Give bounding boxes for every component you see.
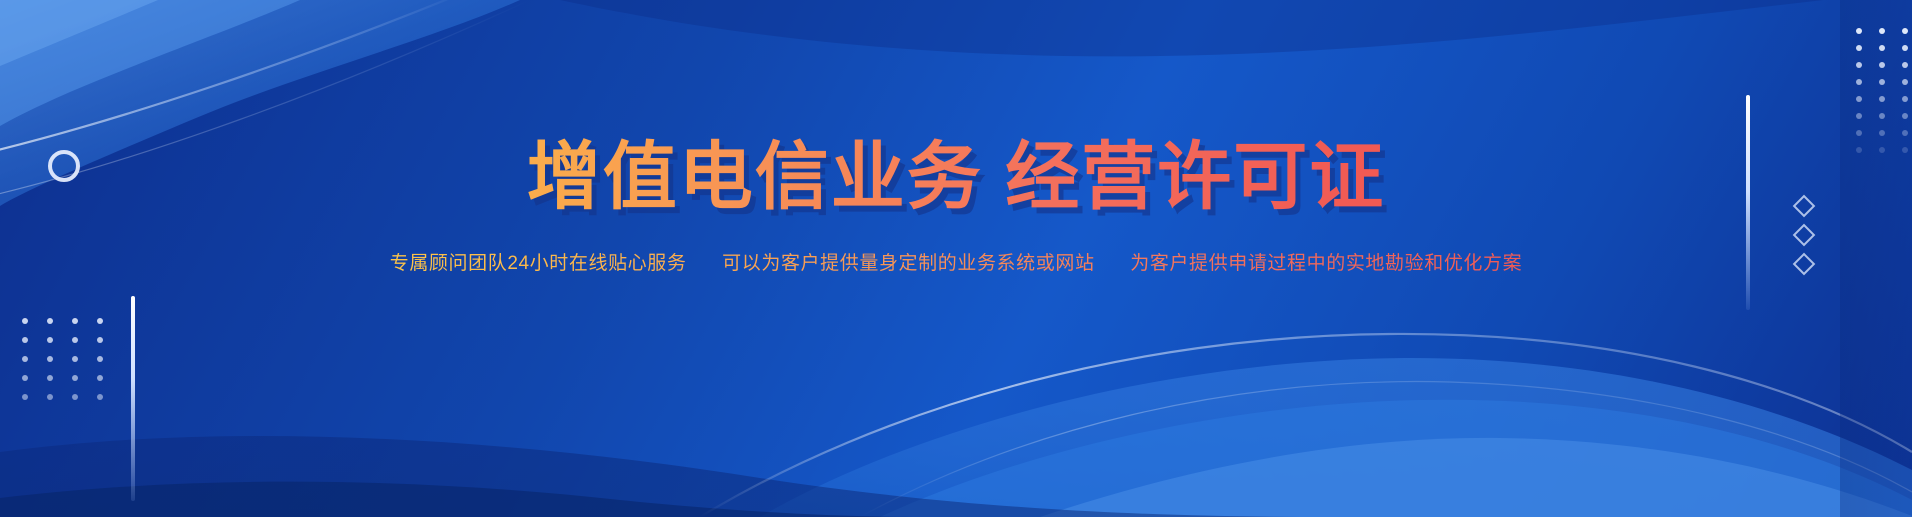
promo-banner: 增值电信业务 经营许可证 专属顾问团队24小时在线贴心服务 可以为客户提供量身定…: [0, 0, 1912, 517]
banner-title: 增值电信业务 经营许可证: [0, 0, 1912, 216]
banner-subtitle: 专属顾问团队24小时在线贴心服务 可以为客户提供量身定制的业务系统或网站 为客户…: [0, 216, 1912, 279]
vertical-bar-decor-left: [131, 296, 135, 501]
dot-grid-decor-bottom-left: [22, 318, 103, 400]
subtitle-separator: [1100, 253, 1124, 274]
subtitle-part-1: 专属顾问团队24小时在线贴心服务: [390, 253, 687, 274]
subtitle-part-3: 为客户提供申请过程中的实地勘验和优化方案: [1130, 253, 1522, 274]
banner-content: 增值电信业务 经营许可证 专属顾问团队24小时在线贴心服务 可以为客户提供量身定…: [0, 0, 1912, 279]
subtitle-part-2: 可以为客户提供量身定制的业务系统或网站: [722, 253, 1094, 274]
subtitle-separator: [692, 253, 716, 274]
